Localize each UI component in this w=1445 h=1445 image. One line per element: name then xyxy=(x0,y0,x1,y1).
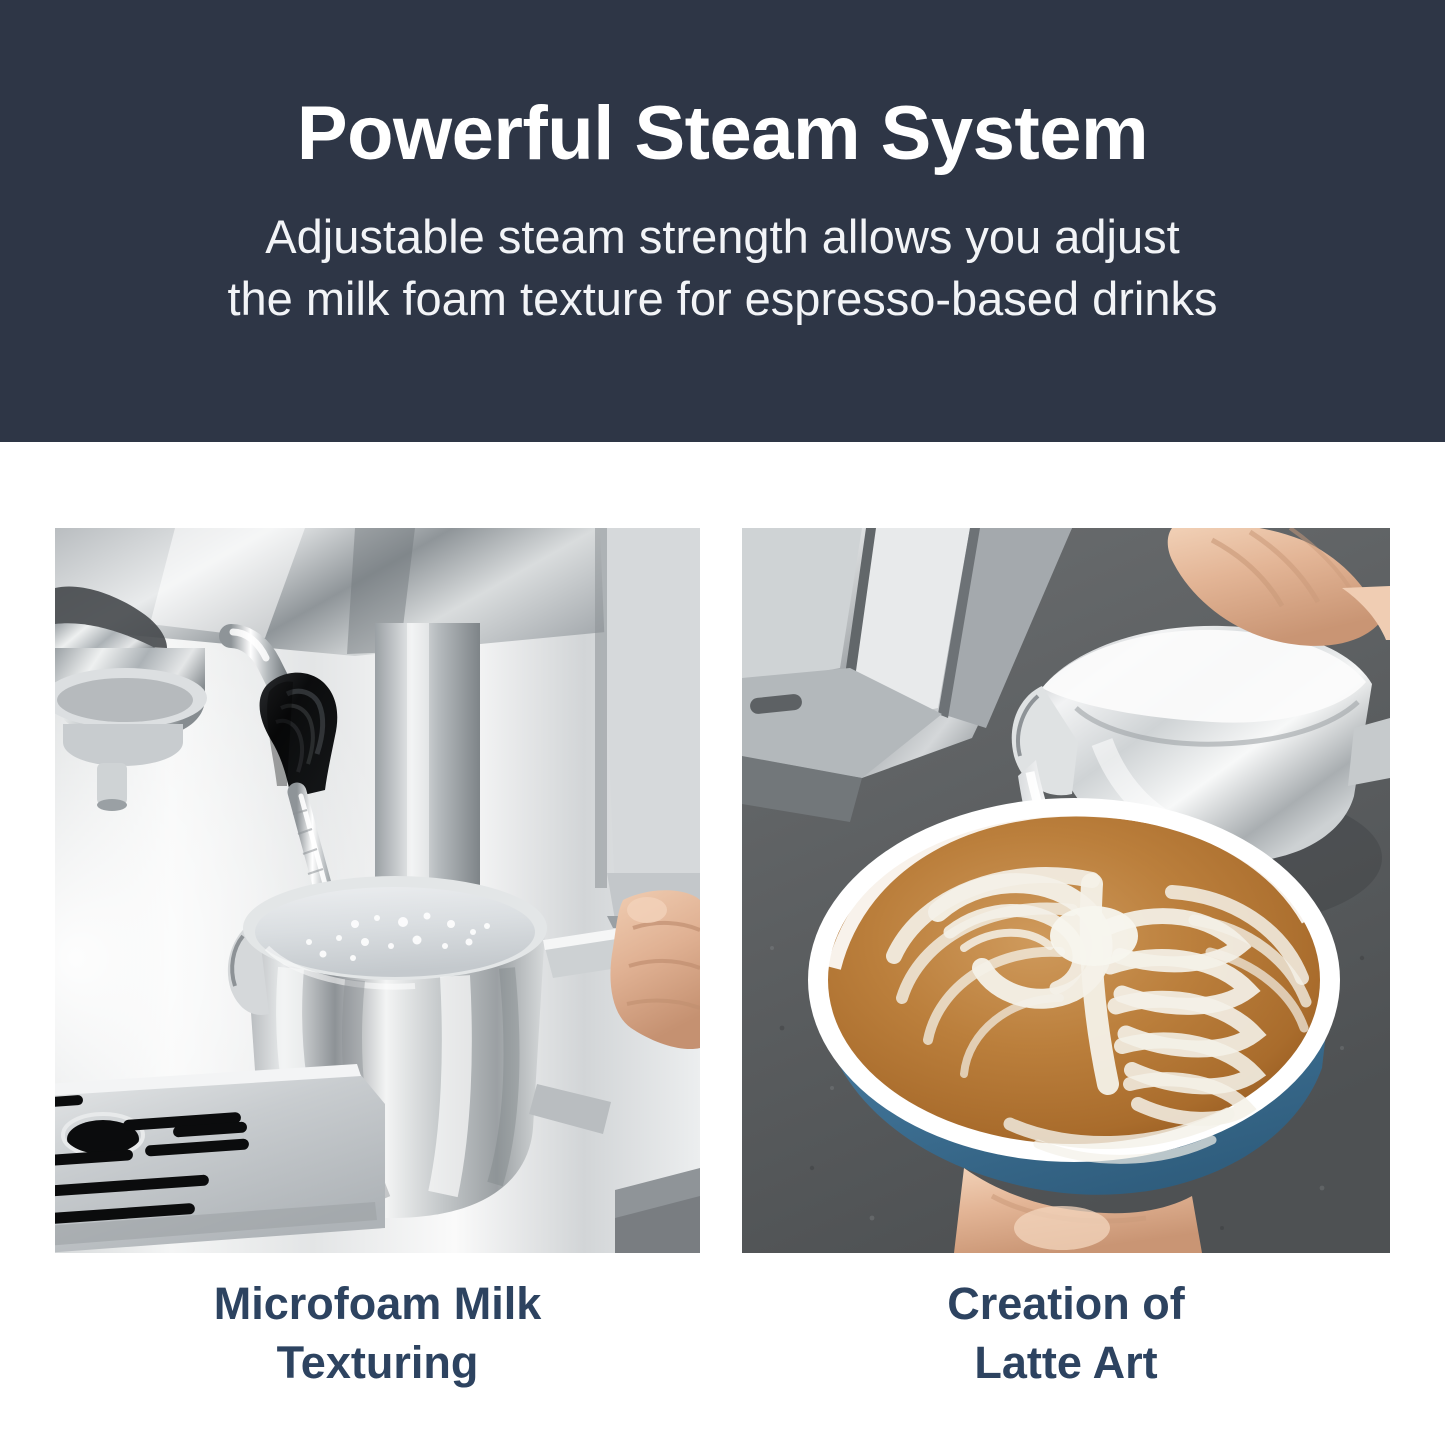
jug-handle xyxy=(1348,718,1390,786)
pitcher-gloss-right xyxy=(443,976,457,1194)
milk-surface xyxy=(255,887,535,977)
photo-creation-of-latte-art xyxy=(742,528,1390,1253)
product-feature-card: Powerful Steam System Adjustable steam s… xyxy=(0,0,1445,1445)
photo-microfoam-milk-texturing xyxy=(55,528,700,1253)
portafilter-spout xyxy=(97,763,127,805)
caption-microfoam-milk-texturing: Microfoam Milk Texturing xyxy=(55,1275,700,1392)
caption-creation-of-latte-art: Creation of Latte Art xyxy=(742,1275,1390,1392)
latte-art-pour-illustration xyxy=(742,528,1390,1253)
caption-right-line-1: Creation of xyxy=(742,1275,1390,1334)
subtitle-line-1: Adjustable steam strength allows you adj… xyxy=(227,206,1217,268)
thumbnail xyxy=(1014,1206,1110,1250)
portafilter-inner xyxy=(57,678,193,722)
page-subtitle: Adjustable steam strength allows you adj… xyxy=(227,206,1217,330)
page-title: Powerful Steam System xyxy=(297,96,1148,172)
espresso-machine-steaming-illustration xyxy=(55,528,700,1253)
header-band: Powerful Steam System Adjustable steam s… xyxy=(0,0,1445,442)
photo-section: Microfoam Milk Texturing Creation of Lat… xyxy=(0,442,1445,1445)
milk-landing-pool xyxy=(1050,906,1138,966)
machine-right-wall xyxy=(600,528,700,898)
portafilter-spout-tip xyxy=(97,799,127,811)
caption-left-line-1: Microfoam Milk xyxy=(55,1275,700,1334)
caption-left-line-2: Texturing xyxy=(55,1334,700,1393)
caption-right-line-2: Latte Art xyxy=(742,1334,1390,1393)
subtitle-line-2: the milk foam texture for espresso-based… xyxy=(227,268,1217,330)
fingernail xyxy=(627,897,667,923)
right-wall-edge xyxy=(595,528,607,888)
